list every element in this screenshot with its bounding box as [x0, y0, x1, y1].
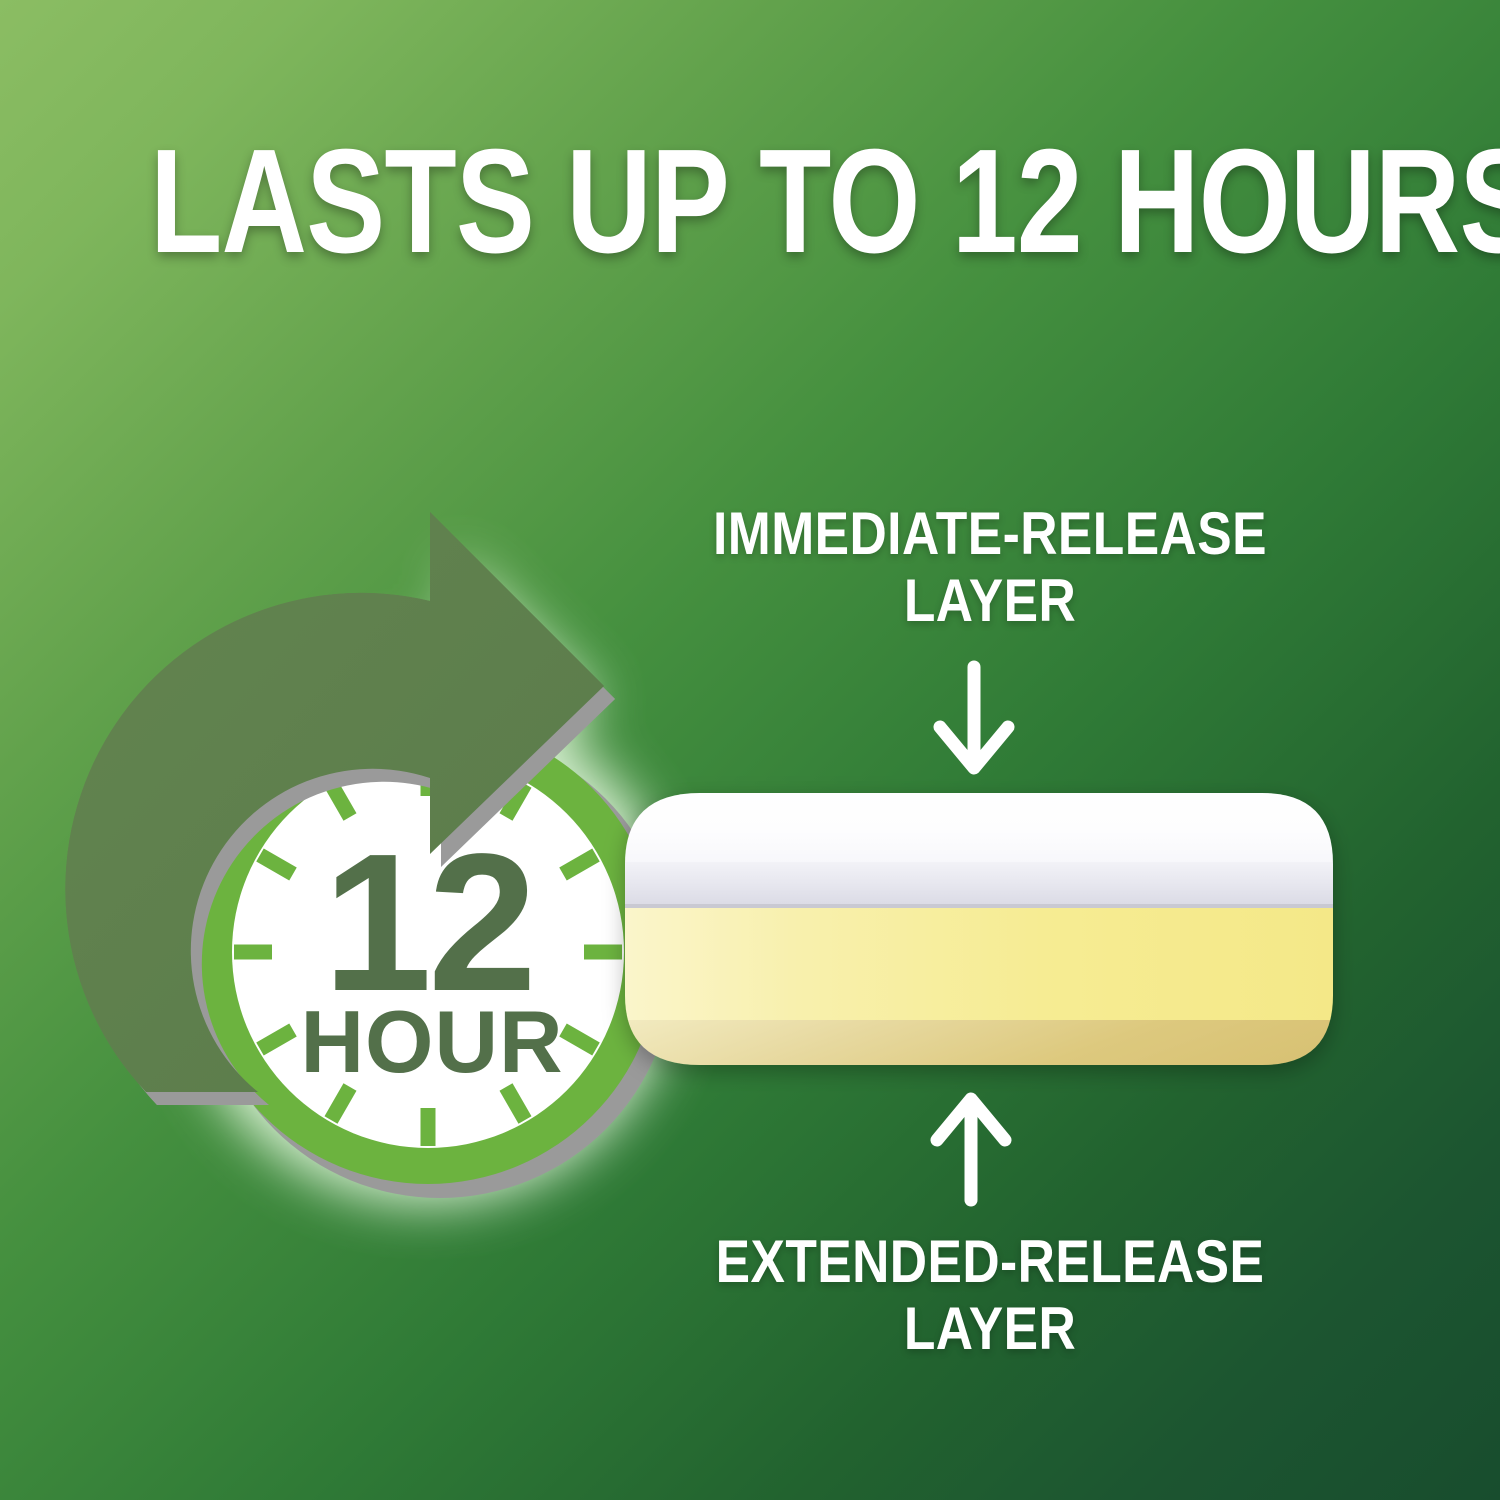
callout-immediate-release-line1: IMMEDIATE-RELEASE: [713, 500, 1267, 567]
infographic-canvas: LASTS UP TO 12 HOURS: [0, 0, 1500, 1500]
callout-extended-release-line2: LAYER: [698, 1295, 1283, 1362]
tablet-graphic: [600, 780, 1360, 1090]
clock-unit: HOUR: [300, 992, 563, 1091]
callout-immediate-release: IMMEDIATE-RELEASE LAYER: [698, 500, 1283, 634]
callout-extended-release-line1: EXTENDED-RELEASE: [716, 1228, 1265, 1295]
callout-extended-release: EXTENDED-RELEASE LAYER: [698, 1228, 1283, 1362]
callout-immediate-release-line2: LAYER: [698, 567, 1283, 634]
